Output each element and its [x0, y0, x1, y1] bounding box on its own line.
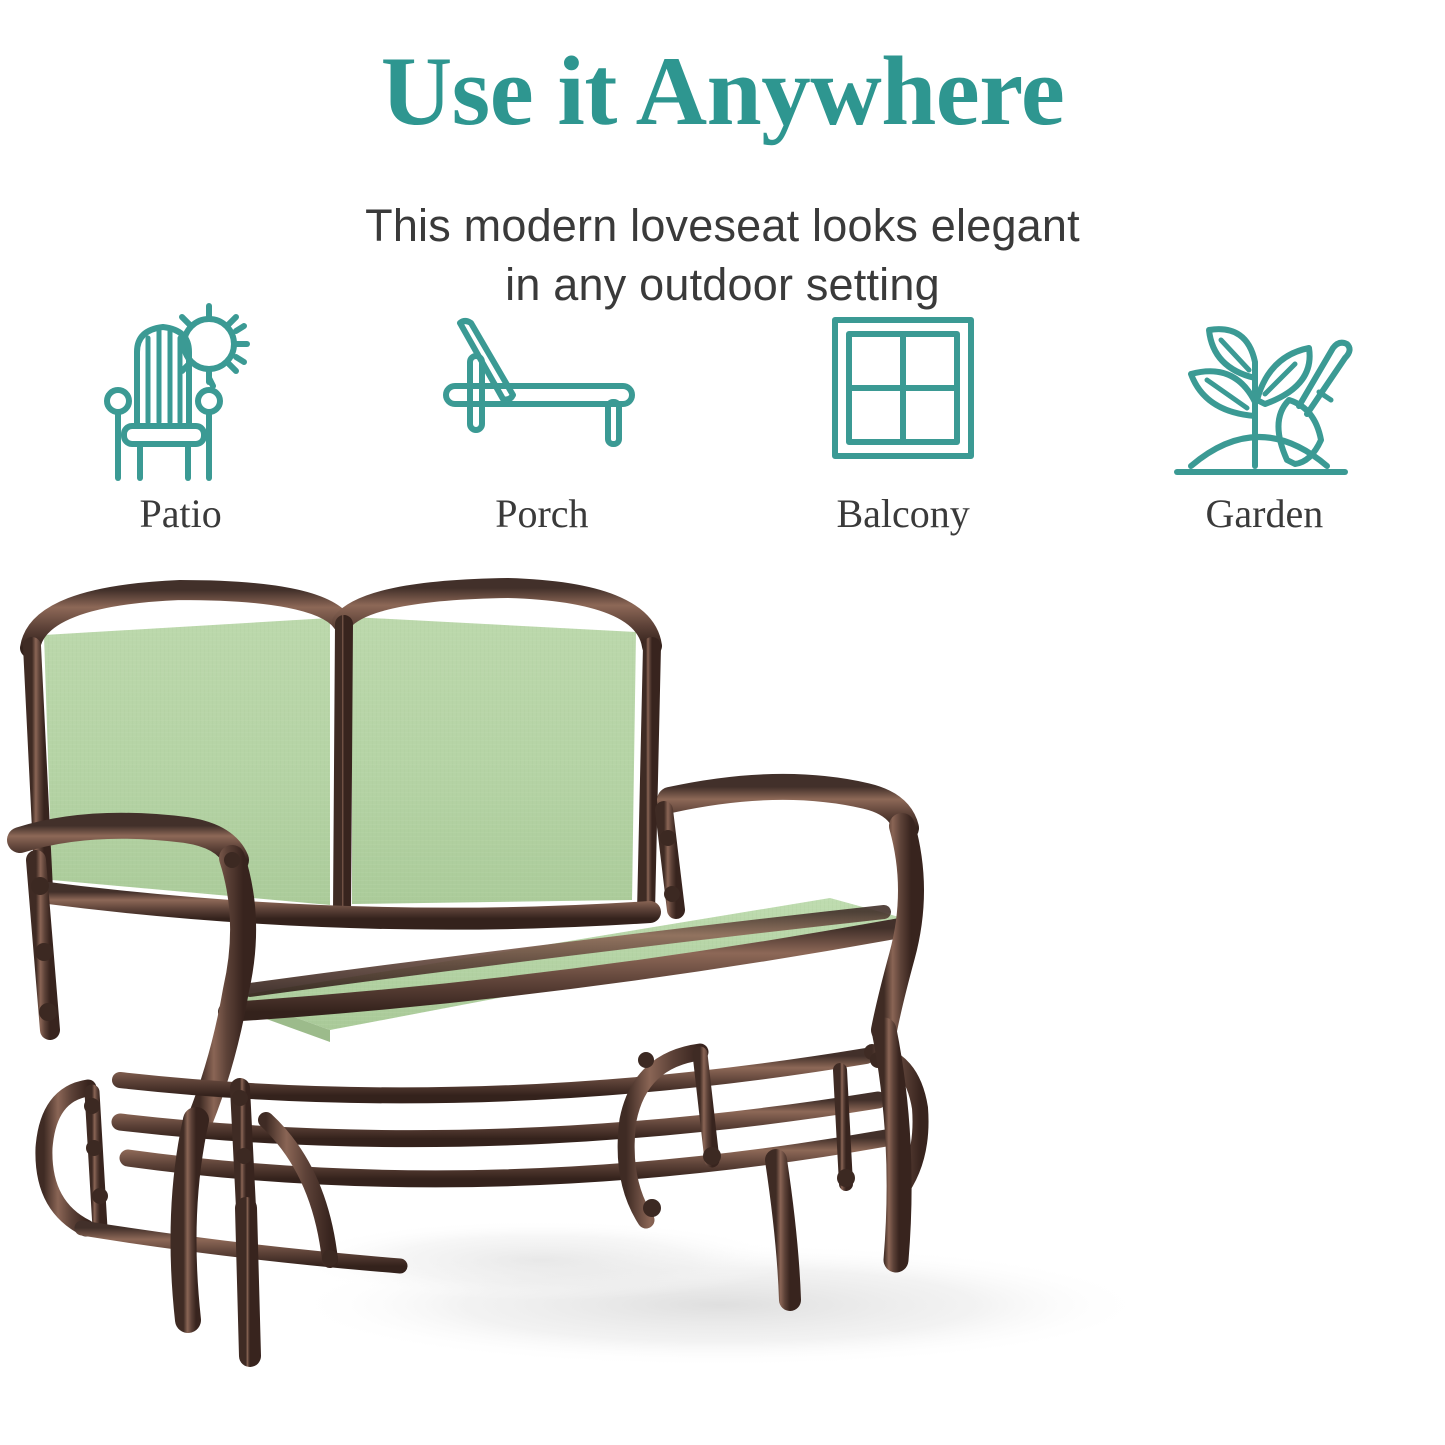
use-case-balcony: Balcony	[723, 300, 1084, 560]
product-photo	[0, 560, 1445, 1445]
seat-front-rail	[228, 928, 900, 1012]
use-case-label-porch: Porch	[495, 494, 588, 534]
use-case-label-patio: Patio	[140, 494, 222, 534]
use-case-label-balcony: Balcony	[836, 494, 969, 534]
use-case-icon-row: Patio Porch	[0, 300, 1445, 560]
page-title: Use it Anywhere	[0, 42, 1445, 141]
promo-image: Use it Anywhere This modern loveseat loo…	[0, 0, 1445, 1445]
use-case-patio: Patio	[0, 300, 361, 560]
use-case-label-garden: Garden	[1206, 494, 1324, 534]
subtitle-line-1: This modern loveseat looks elegant	[365, 200, 1080, 251]
adirondack-chair-with-sun-icon	[0, 300, 361, 490]
page-subtitle: This modern loveseat looks elegant in an…	[0, 196, 1445, 315]
use-case-garden: Garden	[1084, 300, 1445, 560]
plant-with-trowel-icon	[1084, 300, 1445, 490]
chaise-lounge-chair-icon	[361, 300, 722, 490]
four-pane-window-icon	[723, 300, 1084, 490]
use-case-porch: Porch	[361, 300, 722, 560]
